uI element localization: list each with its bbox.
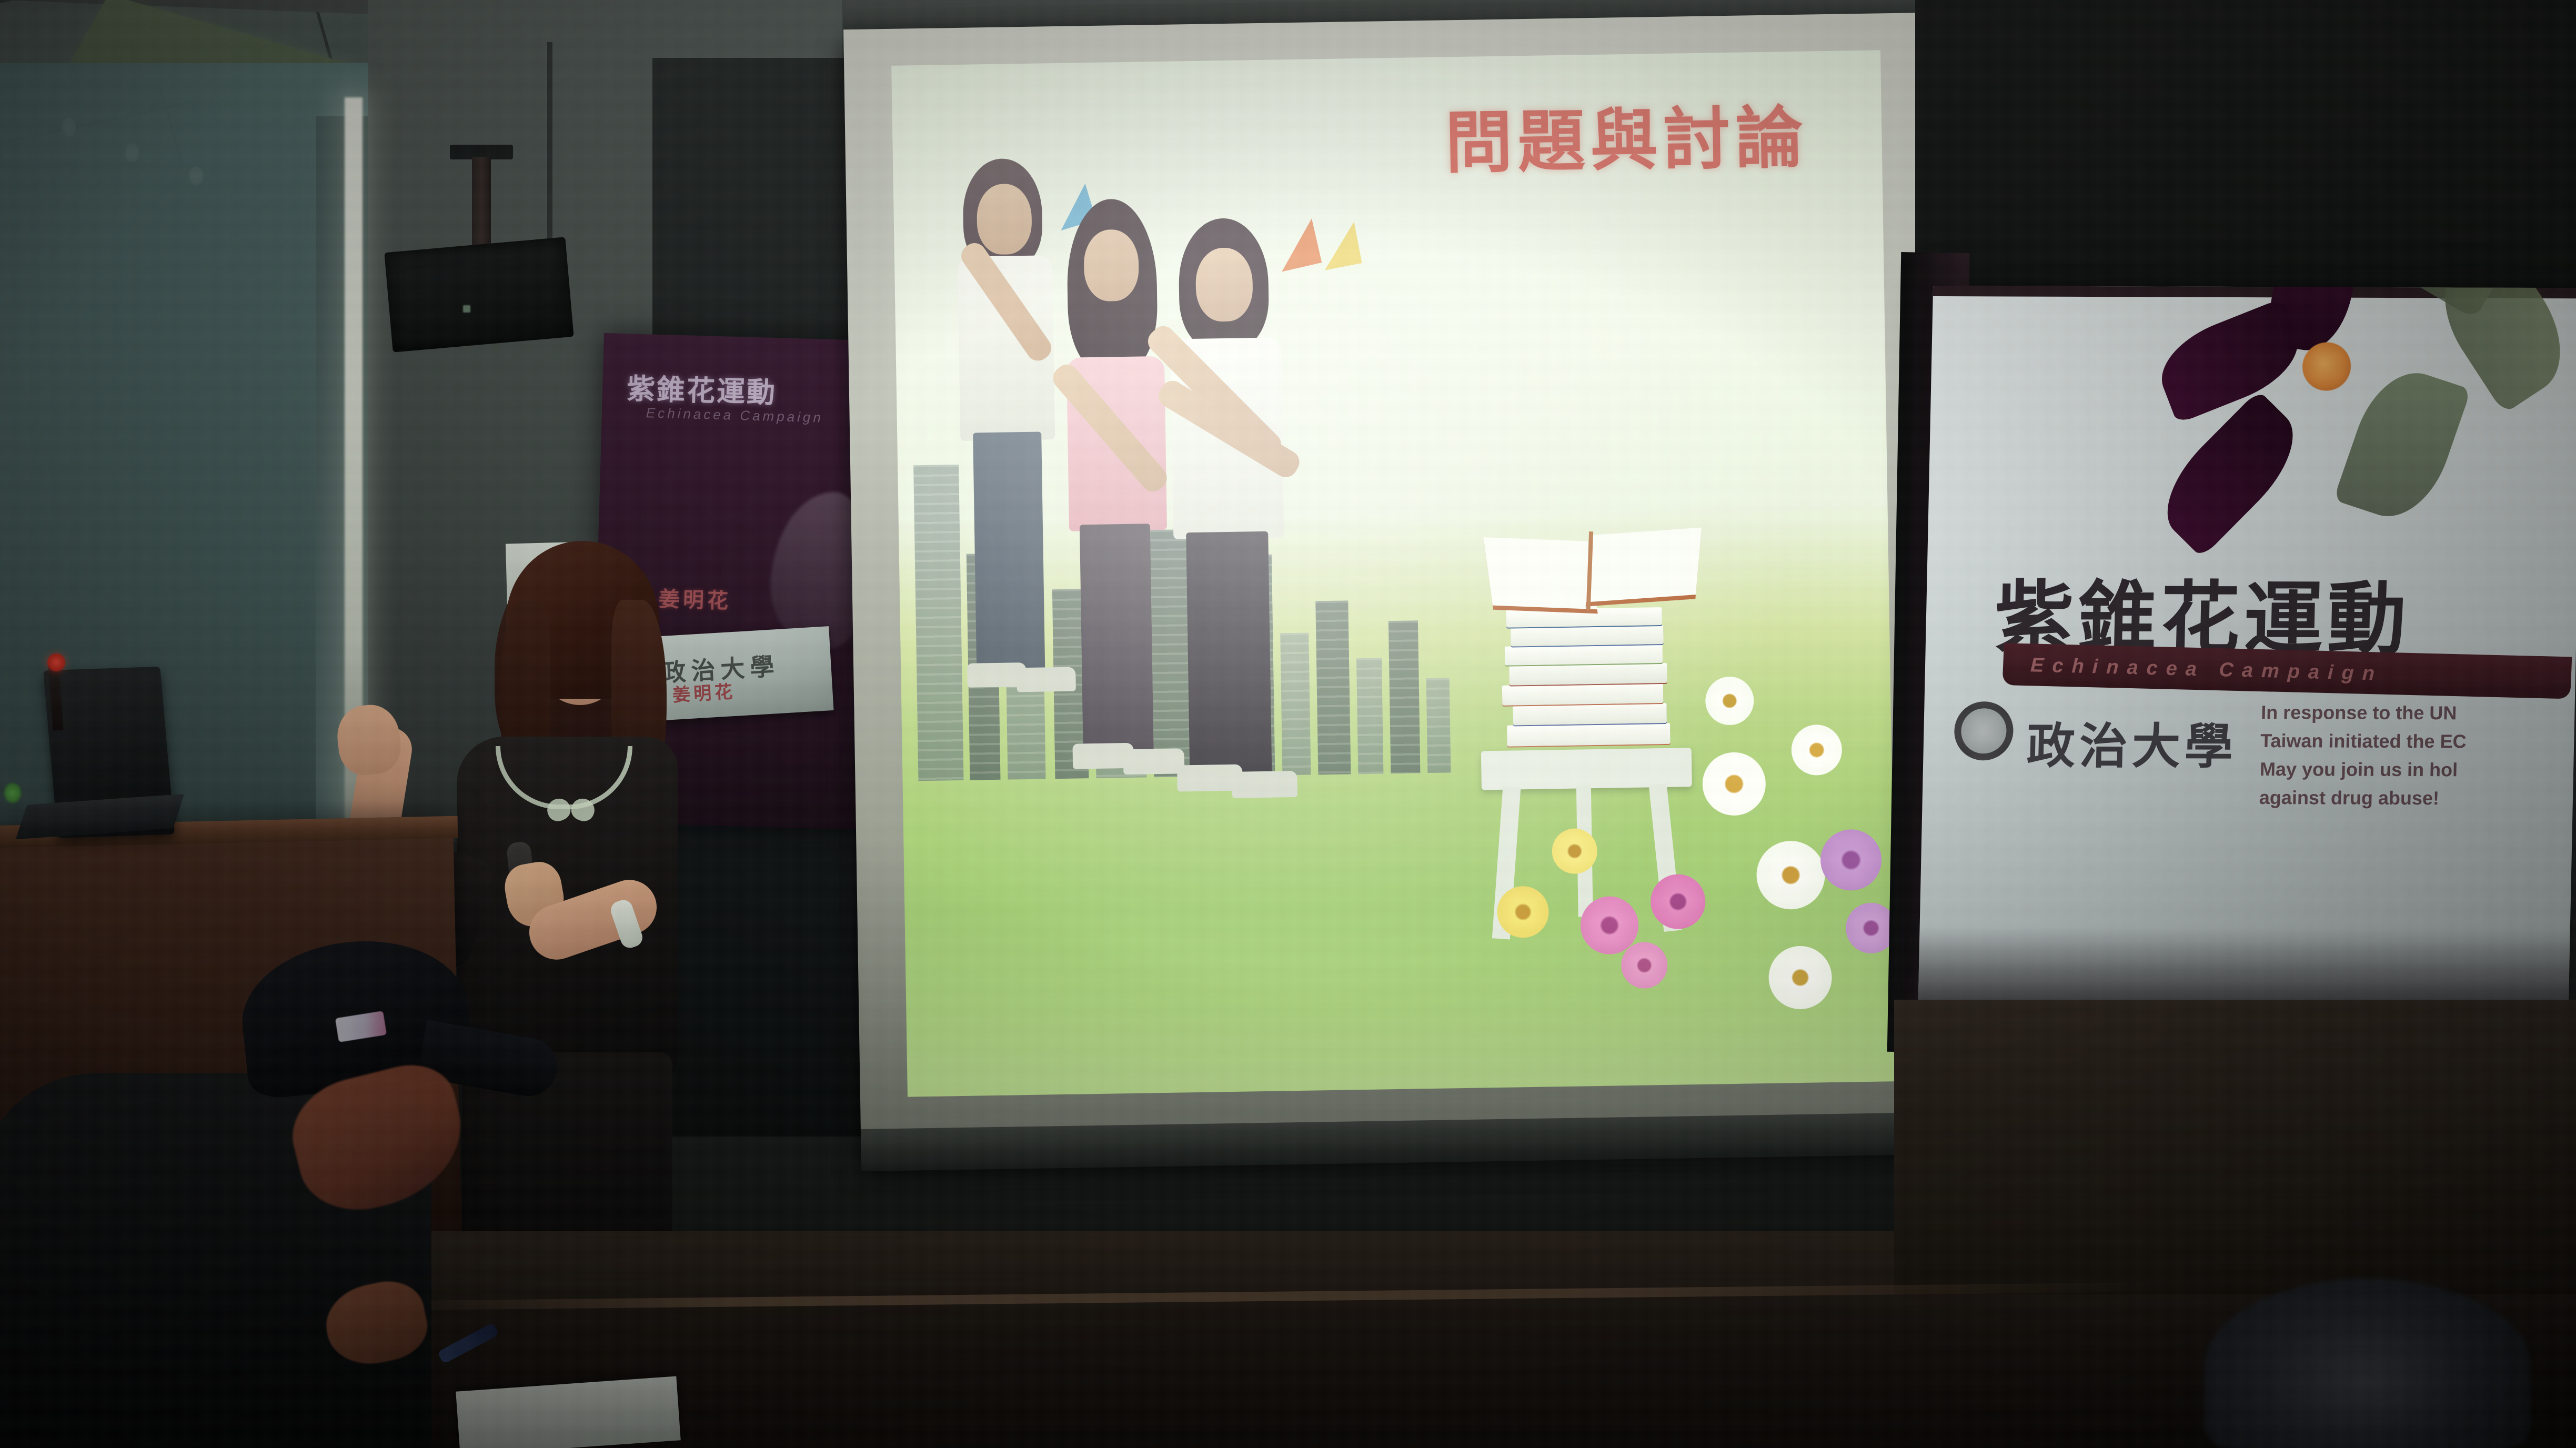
- paper-plane-icon: [1317, 222, 1362, 270]
- foreground-attendee-with-cap: [0, 916, 537, 1448]
- paper-plane-icon: [1272, 218, 1322, 271]
- slide-title: 問題與討論: [1444, 83, 1809, 186]
- projected-slide: 問題與討論: [891, 50, 1897, 1097]
- presenter-raised-hand: [334, 702, 403, 778]
- university-seal-icon: [1954, 701, 2014, 760]
- presentation-photo-scene: 紫錐花運動 Echinacea Campaign 姜明花 政治大學 姜明花: [0, 0, 2576, 1448]
- lower-right-wall: [1894, 1000, 2576, 1294]
- podium-status-light: [4, 783, 21, 803]
- speaker-led-indicator: [463, 305, 470, 313]
- right-campaign-banner: 紫錐花運動 Echinacea Campaign 政治大學 In respons…: [1918, 286, 2576, 1003]
- mic-indicator-light: [47, 653, 65, 671]
- banner-english-line: against drug abuse!: [2259, 783, 2576, 813]
- banner-english-line: In response to the UN: [2261, 698, 2576, 728]
- flower-center: [2302, 342, 2351, 390]
- right-upper-wall: [1915, 0, 2576, 326]
- right-banner-ribbon-text: Echinacea Campaign: [2030, 654, 2383, 685]
- banner-english-line: May you join us in hol: [2259, 755, 2576, 785]
- banner-bottom-shadow: [1918, 928, 2570, 1003]
- presenter-bow: [547, 799, 595, 823]
- banner-english-line: Taiwan initiated the EC: [2260, 727, 2576, 756]
- banner-left-subtitle: Echinacea Campaign: [646, 405, 823, 426]
- banner-english-text: In response to the UN Taiwan initiated t…: [2259, 698, 2576, 813]
- wall-speaker-icon: [384, 237, 573, 352]
- echinacea-flower-icon: [2117, 286, 2524, 535]
- slide-student-3: [1141, 216, 1373, 877]
- projection-screen: 問題與討論: [843, 0, 1945, 1192]
- speaker-bracket-arm: [472, 157, 491, 257]
- university-name: 政治大學: [2026, 707, 2238, 778]
- right-banner-ribbon: Echinacea Campaign: [2003, 643, 2572, 699]
- foreground-attendee-head: [2205, 1279, 2531, 1448]
- banner-left-title: 紫錐花運動: [626, 365, 777, 411]
